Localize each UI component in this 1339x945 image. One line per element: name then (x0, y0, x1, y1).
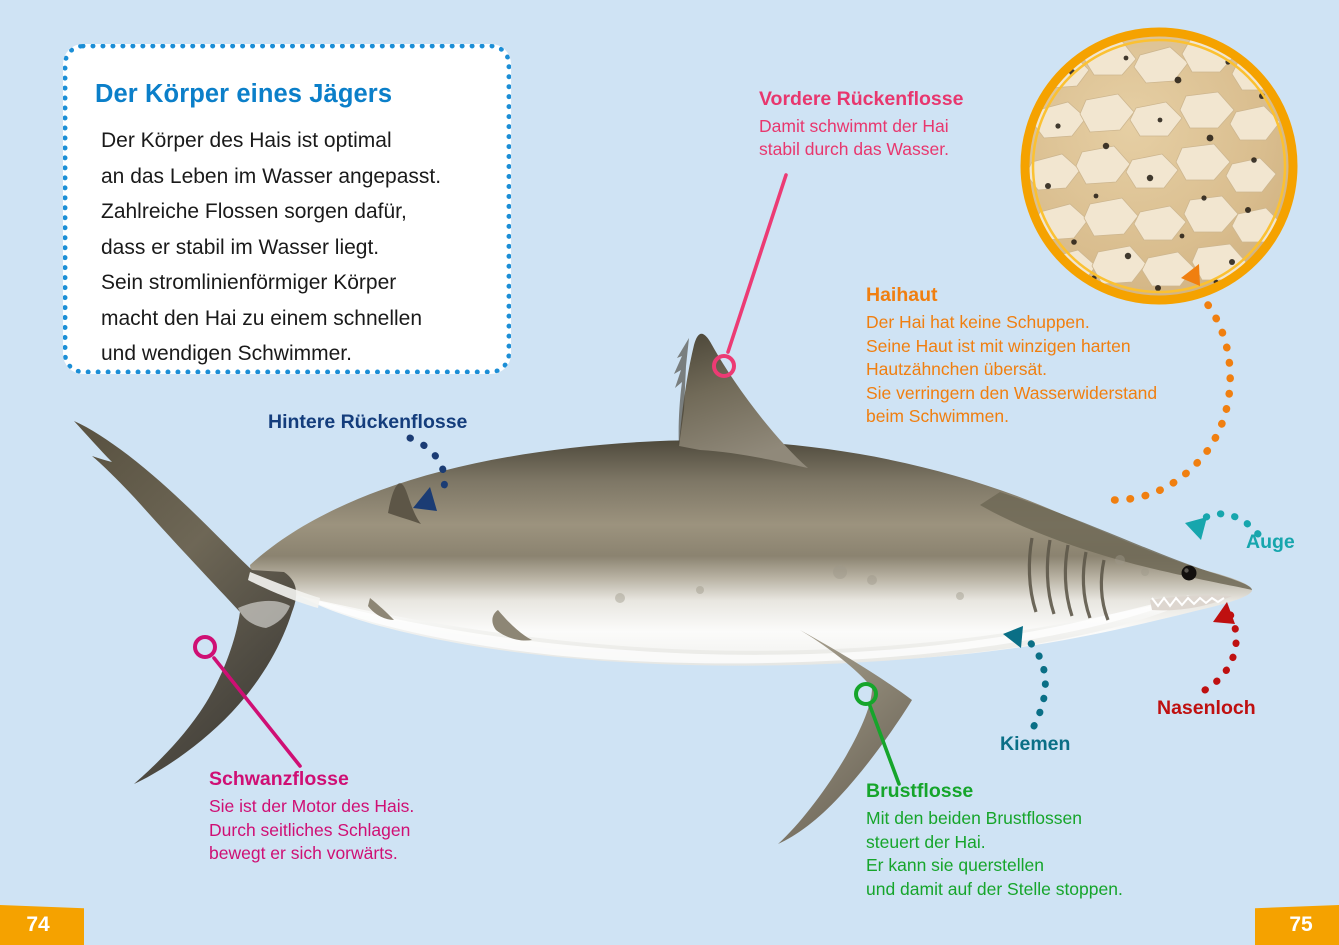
info-line: macht den Hai zu einem schnellen (101, 301, 501, 337)
annotation-caudal-fin: Schwanzflosse Sie ist der Motor des Hais… (209, 768, 414, 866)
shark-eye-highlight (1184, 568, 1188, 572)
second-dorsal-dotted-path (410, 438, 445, 498)
annotation-pectoral-fin: Brustflosse Mit den beiden Brustflossen … (866, 780, 1123, 901)
info-line: Sein stromlinienförmiger Körper (101, 265, 501, 301)
annotation-line: Sie verringern den Wasserwiderstand (866, 382, 1157, 406)
nostril-dotted-path (1205, 614, 1236, 690)
dorsal-marker-circle (714, 356, 734, 376)
annotation-body: Damit schwimmt der Hai stabil durch das … (759, 115, 963, 160)
second-dorsal-arrowhead (413, 487, 437, 511)
annotation-dorsal-fin: Vordere Rückenflosse Damit schwimmt der … (759, 88, 963, 160)
annotation-line: Damit schwimmt der Hai (759, 115, 963, 138)
pectoral-connector-line (870, 706, 899, 784)
info-line: Der Körper des Hais ist optimal (101, 123, 501, 159)
first-dorsal-fin-notches (674, 338, 689, 446)
pelvic-fin (492, 610, 532, 641)
anal-fin (368, 598, 394, 620)
annotation-title: Brustflosse (866, 780, 1123, 803)
shark-eye (1182, 566, 1197, 581)
eye-arrowhead (1185, 517, 1207, 540)
annotation-second-dorsal-fin: Hintere Rückenflosse (268, 411, 467, 434)
info-line: an das Leben im Wasser angepasst. (101, 159, 501, 195)
info-line: Zahlreiche Flossen sorgen dafür, (101, 194, 501, 230)
shark-body (250, 440, 1252, 662)
dorsal-connector-line (728, 175, 786, 352)
annotation-line: bewegt er sich vorwärts. (209, 842, 414, 866)
info-line: und wendigen Schwimmer. (101, 336, 501, 372)
nostril-arrowhead (1213, 602, 1235, 624)
annotation-title: Haihaut (866, 284, 1157, 307)
first-dorsal-fin (679, 334, 808, 468)
annotation-line: steuert der Hai. (866, 831, 1123, 855)
annotation-body: Sie ist der Motor des Hais. Durch seitli… (209, 795, 414, 866)
second-dorsal-fin (388, 483, 421, 524)
shark-belly (300, 596, 1200, 666)
inset-ring-outer (1025, 32, 1293, 300)
caudal-marker-circle (195, 637, 215, 657)
annotation-line: Seine Haut ist mit winzigen harten (866, 335, 1157, 359)
gills-arrowhead (1003, 626, 1023, 648)
annotation-title: Schwanzflosse (209, 768, 414, 791)
shark-belly-edge (300, 595, 1190, 663)
annotation-nostril: Nasenloch (1157, 697, 1256, 720)
shark-teeth (1152, 598, 1224, 606)
annotation-line: Hautzähnchen übersät. (866, 358, 1157, 382)
annotation-shark-skin: Haihaut Der Hai hat keine Schuppen. Sein… (866, 284, 1157, 429)
info-box-text: Der Körper des Hais ist optimal an das L… (101, 123, 501, 372)
annotation-line: Der Hai hat keine Schuppen. (866, 311, 1157, 335)
annotation-line: Durch seitliches Schlagen (209, 819, 414, 843)
pectoral-marker-circle (856, 684, 876, 704)
info-box: Der Körper eines Jägers Der Körper des H… (63, 44, 511, 374)
page-number-right: 75 (1255, 905, 1339, 945)
book-spread-page: Der Körper eines Jägers Der Körper des H… (0, 0, 1339, 945)
annotation-title: Vordere Rückenflosse (759, 88, 963, 111)
annotation-gills: Kiemen (1000, 733, 1070, 756)
caudal-fin (74, 421, 296, 784)
annotation-eye: Auge (1246, 531, 1295, 554)
info-box-heading: Der Körper eines Jägers (95, 80, 392, 109)
annotation-line: Sie ist der Motor des Hais. (209, 795, 414, 819)
skin-dark-speckles (1045, 56, 1265, 291)
info-line: dass er stabil im Wasser liegt. (101, 230, 501, 266)
annotation-body: Mit den beiden Brustflossen steuert der … (866, 807, 1123, 901)
gills-dotted-path (1026, 638, 1045, 726)
page-number-left: 74 (0, 905, 84, 945)
shark-mouth (1150, 595, 1232, 610)
annotation-line: beim Schwimmen. (866, 405, 1157, 429)
skin-arrowhead (1181, 264, 1200, 286)
annotation-line: Mit den beiden Brustflossen (866, 807, 1123, 831)
gill-slits (1029, 538, 1108, 620)
caudal-fin-lower-white (238, 601, 290, 628)
skin-micrograph-content (1020, 27, 1300, 307)
caudal-connector-line (214, 658, 300, 766)
inset-ring-inner (1033, 40, 1285, 292)
shark-head-shade (980, 492, 1252, 590)
annotation-body: Der Hai hat keine Schuppen. Seine Haut i… (866, 311, 1157, 429)
caudal-peduncle (248, 572, 320, 608)
annotation-line: Er kann sie querstellen (866, 854, 1123, 878)
shark-skin-spots (615, 555, 1149, 603)
annotation-line: und damit auf der Stelle stoppen. (866, 878, 1123, 902)
annotation-line: stabil durch das Wasser. (759, 138, 963, 161)
